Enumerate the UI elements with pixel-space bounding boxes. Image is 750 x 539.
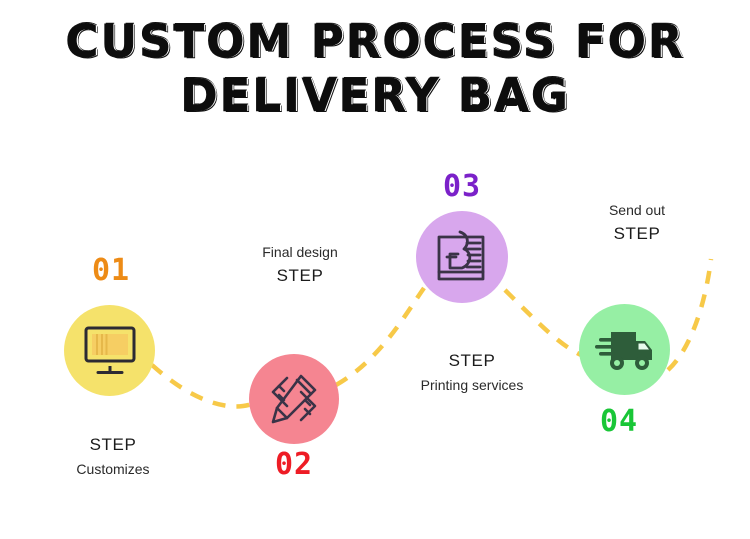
step-02-label: STEP bbox=[225, 263, 375, 289]
step-02-caption: Final design STEP bbox=[225, 241, 375, 289]
step-03-circle[interactable] bbox=[416, 211, 508, 303]
step-03-number: 03 bbox=[437, 172, 487, 202]
step-01-circle[interactable] bbox=[64, 305, 155, 396]
path-segment-4-end bbox=[668, 259, 711, 370]
printer-icon bbox=[434, 230, 490, 284]
step-02-description: Final design bbox=[225, 241, 375, 263]
step-04-number: 04 bbox=[594, 407, 644, 437]
path-segment-1-2 bbox=[152, 365, 252, 406]
path-segment-3-4 bbox=[505, 290, 581, 355]
step-01-caption: STEP Customizes bbox=[38, 432, 188, 480]
step-04-label: STEP bbox=[562, 221, 712, 247]
step-04-circle[interactable] bbox=[579, 304, 670, 395]
step-01-label: STEP bbox=[38, 432, 188, 458]
step-04-caption: Send out STEP bbox=[562, 199, 712, 247]
monitor-icon bbox=[82, 325, 138, 377]
step-03-caption: STEP Printing services bbox=[396, 348, 548, 396]
step-01-description: Customizes bbox=[38, 458, 188, 480]
step-03-description: Printing services bbox=[396, 374, 548, 396]
delivery-truck-icon bbox=[595, 327, 655, 373]
step-04-description: Send out bbox=[562, 199, 712, 221]
infographic-canvas: CUSTOM PROCESS FOR DELIVERY BAG 01 STEP … bbox=[0, 0, 750, 539]
step-02-number: 02 bbox=[269, 450, 319, 480]
pencil-ruler-icon bbox=[267, 372, 321, 426]
step-03-label: STEP bbox=[396, 348, 548, 374]
step-02-circle[interactable] bbox=[249, 354, 339, 444]
step-01-number: 01 bbox=[86, 256, 136, 286]
